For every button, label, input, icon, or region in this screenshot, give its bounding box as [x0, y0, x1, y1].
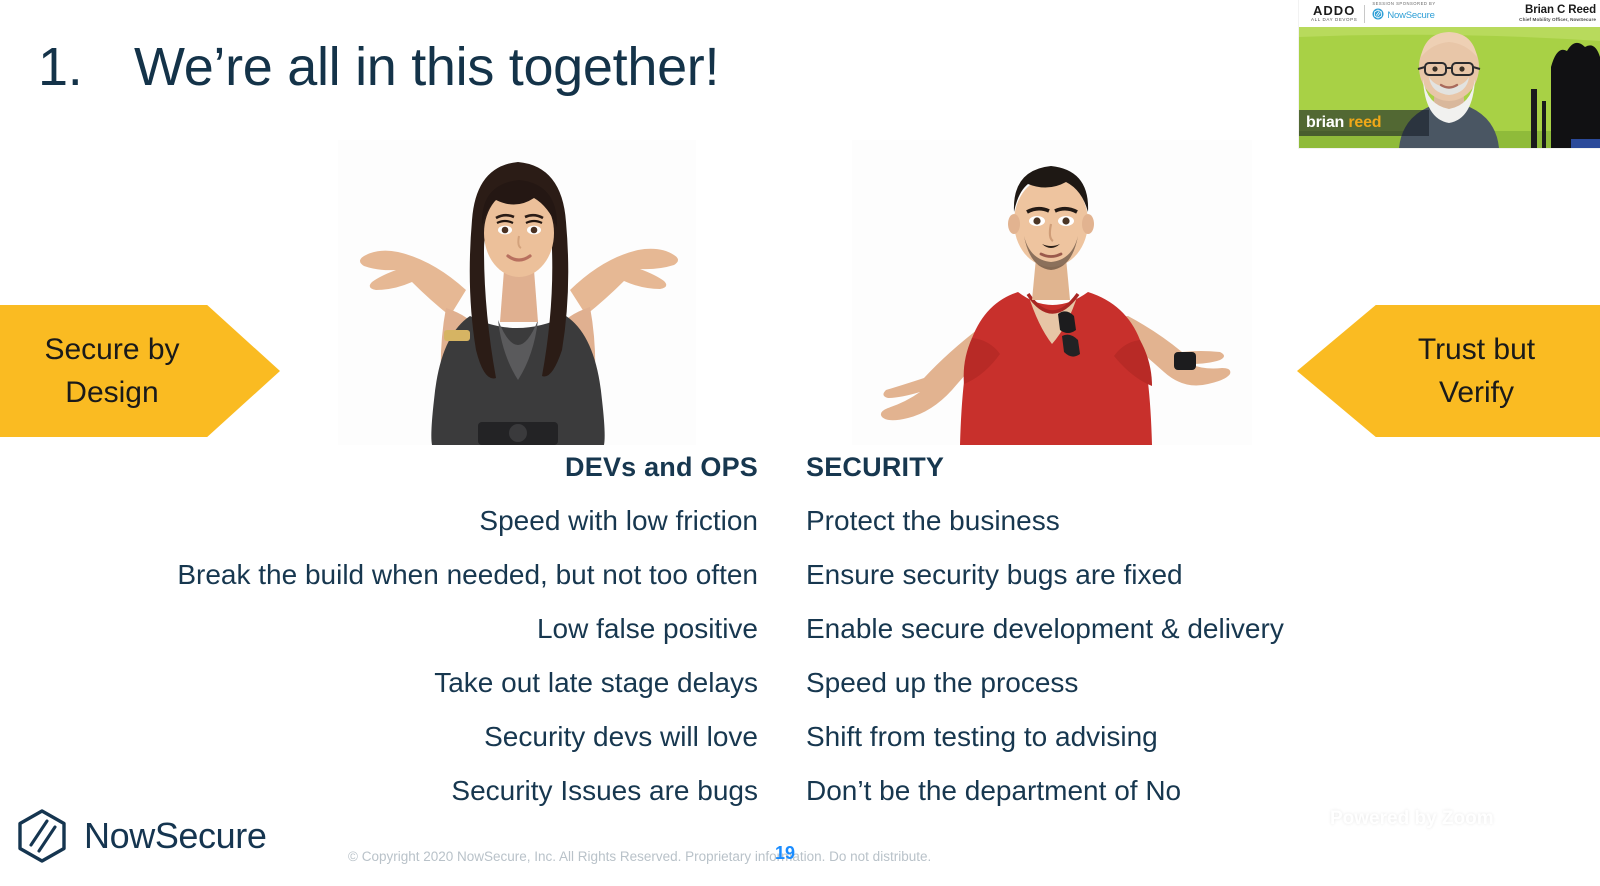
slide-title-text: We’re all in this together!	[134, 36, 719, 98]
security-column: SECURITY Protect the business Ensure sec…	[762, 452, 1322, 829]
list-item: Take out late stage delays	[434, 667, 758, 699]
devs-and-ops-heading: DEVs and OPS	[565, 452, 758, 483]
page-number: 19	[775, 843, 795, 864]
slide-number: 1.	[38, 36, 134, 98]
webcam-banner: ADDO ALL DAY DEVOPS SESSION SPONSORED BY…	[1299, 0, 1600, 27]
sponsor-block: SESSION SPONSORED BY NowSecure	[1372, 2, 1435, 24]
speaker-block: Brian C Reed Chief Mobility Officer, Now…	[1519, 4, 1596, 23]
speaker-name: Brian C Reed	[1519, 4, 1596, 17]
list-item: Break the build when needed, but not too…	[177, 559, 758, 591]
security-heading: SECURITY	[806, 452, 944, 483]
participant-last-name: reed	[1348, 114, 1381, 132]
sponsor-name: NowSecure	[1387, 11, 1434, 21]
secure-by-design-arrow: Secure by Design	[0, 305, 280, 437]
participant-first-name: brian	[1306, 114, 1344, 132]
addo-logo-text: ADDO	[1311, 4, 1357, 17]
nowsecure-wordmark: NowSecure	[84, 815, 266, 857]
list-item: Security devs will love	[484, 721, 758, 753]
shrugging-man-photo	[852, 140, 1252, 445]
addo-event-logo: ADDO ALL DAY DEVOPS	[1311, 4, 1357, 23]
list-item: Security Issues are bugs	[451, 775, 758, 807]
copyright-notice: © Copyright 2020 NowSecure, Inc. All Rig…	[348, 849, 931, 864]
shrugging-woman-photo	[338, 140, 696, 445]
comparison-columns: DEVs and OPS Speed with low friction Bre…	[0, 452, 1340, 829]
list-item: Enable secure development & delivery	[806, 613, 1284, 645]
arrow-right-line2: Verify	[1439, 371, 1514, 415]
arrow-left-line1: Secure by	[44, 328, 179, 372]
list-item: Shift from testing to advising	[806, 721, 1158, 753]
arrow-right-line1: Trust but	[1418, 328, 1535, 372]
devs-and-ops-column: DEVs and OPS Speed with low friction Bre…	[0, 452, 762, 829]
list-item: Protect the business	[806, 505, 1060, 537]
list-item: Speed with low friction	[479, 505, 758, 537]
nowsecure-hexagon-icon	[1372, 7, 1384, 25]
list-item: Don’t be the department of No	[806, 775, 1181, 807]
list-item: Ensure security bugs are fixed	[806, 559, 1183, 591]
participant-name-label: brian reed	[1299, 110, 1429, 136]
powered-by-zoom-watermark: Powered by Zoom	[1330, 808, 1494, 830]
addo-logo-subtitle: ALL DAY DEVOPS	[1311, 18, 1357, 23]
arrow-left-line2: Design	[65, 371, 158, 415]
nowsecure-logo: NowSecure	[14, 808, 266, 864]
webcam-overlay[interactable]: ADDO ALL DAY DEVOPS SESSION SPONSORED BY…	[1299, 0, 1600, 148]
trust-but-verify-arrow: Trust but Verify	[1297, 305, 1600, 437]
banner-divider	[1364, 5, 1365, 23]
list-item: Low false positive	[537, 613, 758, 645]
list-item: Speed up the process	[806, 667, 1078, 699]
slide-title: 1. We’re all in this together!	[38, 36, 719, 98]
nowsecure-hexagon-icon	[14, 808, 70, 864]
speaker-title: Chief Mobility Officer, NowSecure	[1519, 17, 1596, 22]
